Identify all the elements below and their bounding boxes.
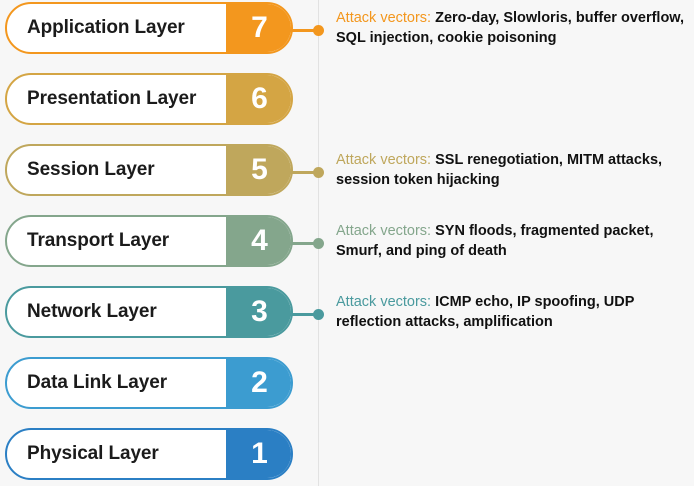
layer-number-cap: 3 <box>226 286 293 338</box>
layer-number-cap: 1 <box>226 428 293 480</box>
connector-dot-layer-4 <box>313 238 324 249</box>
layer-pill-3[interactable]: Network Layer3 <box>5 286 293 338</box>
layer-pill-5[interactable]: Session Layer5 <box>5 144 293 196</box>
layer-label: Transport Layer <box>27 217 169 265</box>
layer-number-cap: 7 <box>226 2 293 54</box>
connector-dot-layer-5 <box>313 167 324 178</box>
osi-layer-diagram: Application Layer7Presentation Layer6Ses… <box>0 0 694 486</box>
attack-vectors-label: Attack vectors: <box>336 10 431 26</box>
layer-pill-1[interactable]: Physical Layer1 <box>5 428 293 480</box>
annotation-layer-7: Attack vectors: Zero-day, Slowloris, buf… <box>336 8 688 48</box>
layer-pill-6[interactable]: Presentation Layer6 <box>5 73 293 125</box>
layer-label: Network Layer <box>27 288 157 336</box>
layer-label: Physical Layer <box>27 430 159 478</box>
layer-pill-7[interactable]: Application Layer7 <box>5 2 293 54</box>
layer-number-cap: 2 <box>226 357 293 409</box>
layer-number-cap: 4 <box>226 215 293 267</box>
layer-number-cap: 5 <box>226 144 293 196</box>
layer-label: Session Layer <box>27 146 155 194</box>
attack-vectors-label: Attack vectors: <box>336 294 431 310</box>
annotation-layer-4: Attack vectors: SYN floods, fragmented p… <box>336 221 688 261</box>
layer-pill-2[interactable]: Data Link Layer2 <box>5 357 293 409</box>
layer-pill-4[interactable]: Transport Layer4 <box>5 215 293 267</box>
layer-label: Presentation Layer <box>27 75 196 123</box>
annotation-layer-5: Attack vectors: SSL renegotiation, MITM … <box>336 150 688 190</box>
layer-label: Data Link Layer <box>27 359 167 407</box>
layer-number: 4 <box>251 226 268 256</box>
layer-number: 2 <box>251 368 268 398</box>
layer-number-cap: 6 <box>226 73 293 125</box>
attack-vectors-label: Attack vectors: <box>336 223 431 239</box>
layer-number: 7 <box>251 13 268 43</box>
layer-number: 1 <box>251 439 268 469</box>
layer-number: 5 <box>251 155 268 185</box>
connector-dot-layer-3 <box>313 309 324 320</box>
attack-vectors-label: Attack vectors: <box>336 152 431 168</box>
layer-number: 6 <box>251 84 268 114</box>
layer-number: 3 <box>251 297 268 327</box>
layer-label: Application Layer <box>27 4 185 52</box>
annotation-layer-3: Attack vectors: ICMP echo, IP spoofing, … <box>336 292 688 332</box>
connector-dot-layer-7 <box>313 25 324 36</box>
